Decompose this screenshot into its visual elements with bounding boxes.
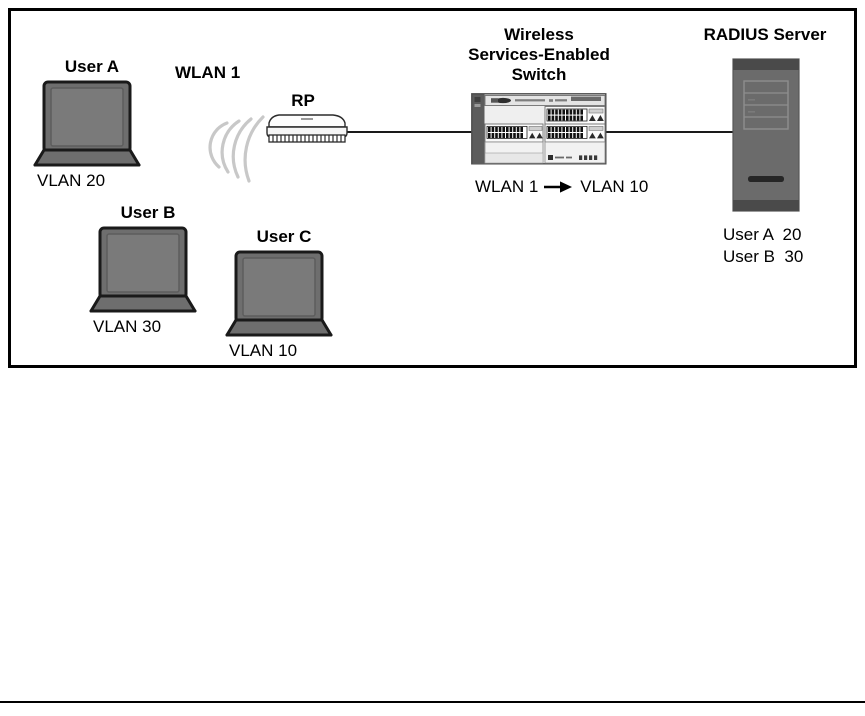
page-bottom-rule (0, 701, 865, 703)
wireless-waves-glyph (181, 109, 271, 189)
radius-entry-row-2: User B 30 (723, 247, 803, 266)
user-b-laptop (83, 225, 203, 317)
network-switch-icon (471, 93, 607, 165)
user-c-title: User C (229, 227, 339, 246)
radius-server-tower (731, 57, 801, 218)
radius-entry-row-1: User A 20 (723, 225, 801, 244)
laptop-icon (219, 249, 339, 341)
wlan-vlan-mapping: WLAN 1 VLAN 10 (475, 177, 648, 196)
switch-title-line-2: Services-Enabled (439, 45, 639, 64)
switch-title-line-3: Switch (439, 65, 639, 84)
rp-access-point (259, 111, 351, 152)
server-tower-icon (731, 57, 801, 213)
laptop-icon (83, 225, 203, 317)
rp-label: RP (273, 91, 333, 110)
user-a-title: User A (37, 57, 147, 76)
laptop-icon (27, 79, 147, 171)
wlan-label: WLAN 1 (175, 63, 240, 82)
access-point-icon (259, 111, 351, 147)
wireless-waves-icon (181, 109, 271, 194)
mapping-target: VLAN 10 (580, 177, 648, 196)
user-c-vlan: VLAN 10 (229, 341, 297, 360)
user-b-vlan: VLAN 30 (93, 317, 161, 336)
switch-title-line-1: Wireless (439, 25, 639, 44)
user-b-title: User B (93, 203, 203, 222)
page-canvas: User A VLAN 20 WLAN 1 (0, 0, 865, 716)
user-c-laptop (219, 249, 339, 341)
user-a-vlan: VLAN 20 (37, 171, 105, 190)
mapping-source: WLAN 1 (475, 177, 538, 196)
network-switch (471, 93, 607, 170)
arrow-right-icon (544, 179, 574, 195)
radius-server-title: RADIUS Server (677, 25, 853, 44)
user-a-laptop (27, 79, 147, 171)
diagram-frame: User A VLAN 20 WLAN 1 (8, 8, 857, 368)
